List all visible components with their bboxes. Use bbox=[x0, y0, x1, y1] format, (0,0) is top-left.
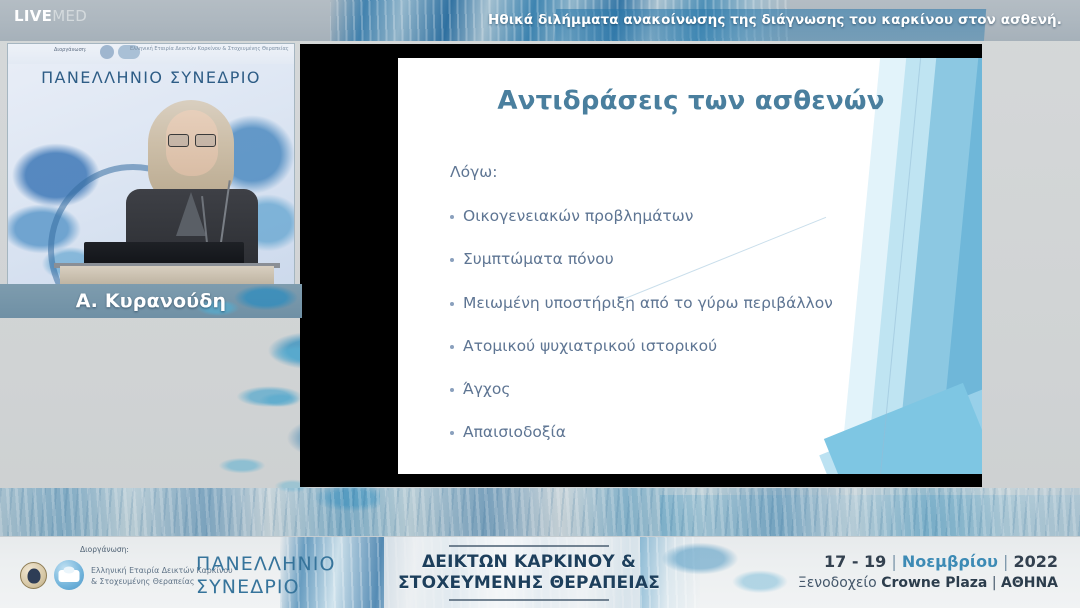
ministry-seal-icon bbox=[20, 562, 47, 589]
bullet-dot-icon bbox=[450, 388, 454, 392]
slide-bullet-item: Απαισιοδοξία bbox=[450, 424, 864, 440]
footer-date-days: 17 - 19 bbox=[824, 552, 886, 571]
footer-date-line: 17 - 19 | Νοεμβρίου | 2022 bbox=[798, 551, 1058, 573]
slide-viewport[interactable]: Αντιδράσεις των ασθενών Λόγω: Οικογενεια… bbox=[300, 44, 982, 487]
footer-congress-title: ΔΕΙΚΤΩΝ ΚΑΡΚΙΝΟΥ & ΣΤΟΧΕΥΜΕΝΗΣ ΘΕΡΑΠΕΙΑΣ bbox=[384, 545, 674, 601]
footer-title-line2: ΣΤΟΧΕΥΜΕΝΗΣ ΘΕΡΑΠΕΙΑΣ bbox=[384, 573, 674, 594]
backdrop-org-label: Διοργάνωση: bbox=[54, 47, 87, 53]
slide-bullet-item: Μειωμένη υποστήριξη από το γύρω περιβάλλ… bbox=[450, 295, 864, 311]
speaker-name-bar: Α. Κυρανούδη bbox=[0, 284, 302, 318]
speaker-video-frame[interactable]: Διοργάνωση: Ελληνική Εταιρία Δεικτών Καρ… bbox=[8, 44, 294, 288]
footer-venue-city: ΑΘΗΝΑ bbox=[1001, 575, 1058, 591]
footer-venue-name: Crowne Plaza bbox=[881, 575, 987, 591]
livemed-logo[interactable]: LIVEMED bbox=[14, 9, 87, 24]
background-brush-right bbox=[660, 495, 1080, 537]
header-bar: LIVEMED Ηθικά διλήμματα ανακοίνωσης της … bbox=[0, 0, 1080, 41]
background-brush-band bbox=[0, 488, 1080, 536]
logo-text-live: LIVE bbox=[14, 7, 52, 25]
backdrop-org-name: Ελληνική Εταιρία Δεικτών Καρκίνου & Στοχ… bbox=[130, 46, 289, 53]
bullet-dot-icon bbox=[450, 345, 454, 349]
bullet-dot-icon bbox=[450, 258, 454, 262]
backdrop-title: ΠΑΝΕΛΛΗΝΙΟ ΣΥΝΕΔΡΙΟ bbox=[22, 68, 280, 87]
footer-rule-top bbox=[449, 545, 609, 547]
footer-rule-bottom bbox=[449, 599, 609, 601]
bullet-text: Άγχος bbox=[463, 381, 510, 397]
page-stage: LIVEMED Ηθικά διλήμματα ανακοίνωσης της … bbox=[0, 0, 1080, 608]
slide-title: Αντιδράσεις των ασθενών bbox=[398, 86, 982, 116]
footer-date-sep-2: | bbox=[1003, 552, 1008, 571]
society-seal-icon bbox=[54, 560, 84, 590]
bullet-text: Ατομικού ψυχιατρικού ιστορικού bbox=[463, 338, 717, 354]
footer-organizer-label: Διοργάνωση: bbox=[80, 545, 129, 554]
footer-congress-name: ΠΑΝΕΛΛΗΝΙΟ ΣΥΝΕΔΡΙΟ bbox=[196, 553, 336, 599]
slide-content: Αντιδράσεις των ασθενών Λόγω: Οικογενεια… bbox=[398, 58, 982, 474]
footer-venue-prefix: Ξενοδοχείο bbox=[798, 575, 877, 591]
bullet-text: Μειωμένη υποστήριξη από το γύρω περιβάλλ… bbox=[463, 295, 833, 311]
slide-bullet-item: Συμπτώματα πόνου bbox=[450, 251, 864, 267]
footer-congress-line2: ΣΥΝΕΔΡΙΟ bbox=[196, 576, 336, 599]
slide-bullet-item: Άγχος bbox=[450, 381, 864, 397]
footer-date-year: 2022 bbox=[1013, 552, 1058, 571]
footer-title-line1: ΔΕΙΚΤΩΝ ΚΑΡΚΙΝΟΥ & bbox=[384, 552, 674, 573]
footer-event-info: 17 - 19 | Νοεμβρίου | 2022 Ξενοδοχείο Cr… bbox=[798, 551, 1058, 593]
speaker-glasses bbox=[168, 134, 216, 145]
logo-text-med: MED bbox=[52, 7, 87, 25]
slide-lead-in: Λόγω: bbox=[450, 163, 864, 181]
footer-date-month: Νοεμβρίου bbox=[902, 552, 998, 571]
bullet-text: Απαισιοδοξία bbox=[463, 424, 566, 440]
bullet-dot-icon bbox=[450, 302, 454, 306]
slide-body: Λόγω: Οικογενειακών προβλημάτων Συμπτώμα… bbox=[450, 163, 864, 468]
presentation-title: Ηθικά διλήμματα ανακοίνωσης της διάγνωση… bbox=[488, 12, 1062, 28]
footer-date-sep-1: | bbox=[891, 552, 896, 571]
footer-bar: Διοργάνωση: Ελληνική Εταιρία Δεικτών Καρ… bbox=[0, 536, 1080, 608]
bullet-text: Οικογενειακών προβλημάτων bbox=[463, 208, 693, 224]
speaker-video-panel[interactable]: Διοργάνωση: Ελληνική Εταιρία Δεικτών Καρ… bbox=[0, 44, 302, 316]
bullet-dot-icon bbox=[450, 431, 454, 435]
slide-bullet-item: Ατομικού ψυχιατρικού ιστορικού bbox=[450, 338, 864, 354]
bullet-text: Συμπτώματα πόνου bbox=[463, 251, 614, 267]
bullet-dot-icon bbox=[450, 215, 454, 219]
footer-congress-line1: ΠΑΝΕΛΛΗΝΙΟ bbox=[196, 553, 336, 576]
footer-venue-line: Ξενοδοχείο Crowne Plaza | ΑΘΗΝΑ bbox=[798, 573, 1058, 593]
footer-venue-sep: | bbox=[992, 575, 997, 591]
slide-bullet-item: Οικογενειακών προβλημάτων bbox=[450, 208, 864, 224]
speaker-name: Α. Κυρανούδη bbox=[76, 290, 227, 312]
